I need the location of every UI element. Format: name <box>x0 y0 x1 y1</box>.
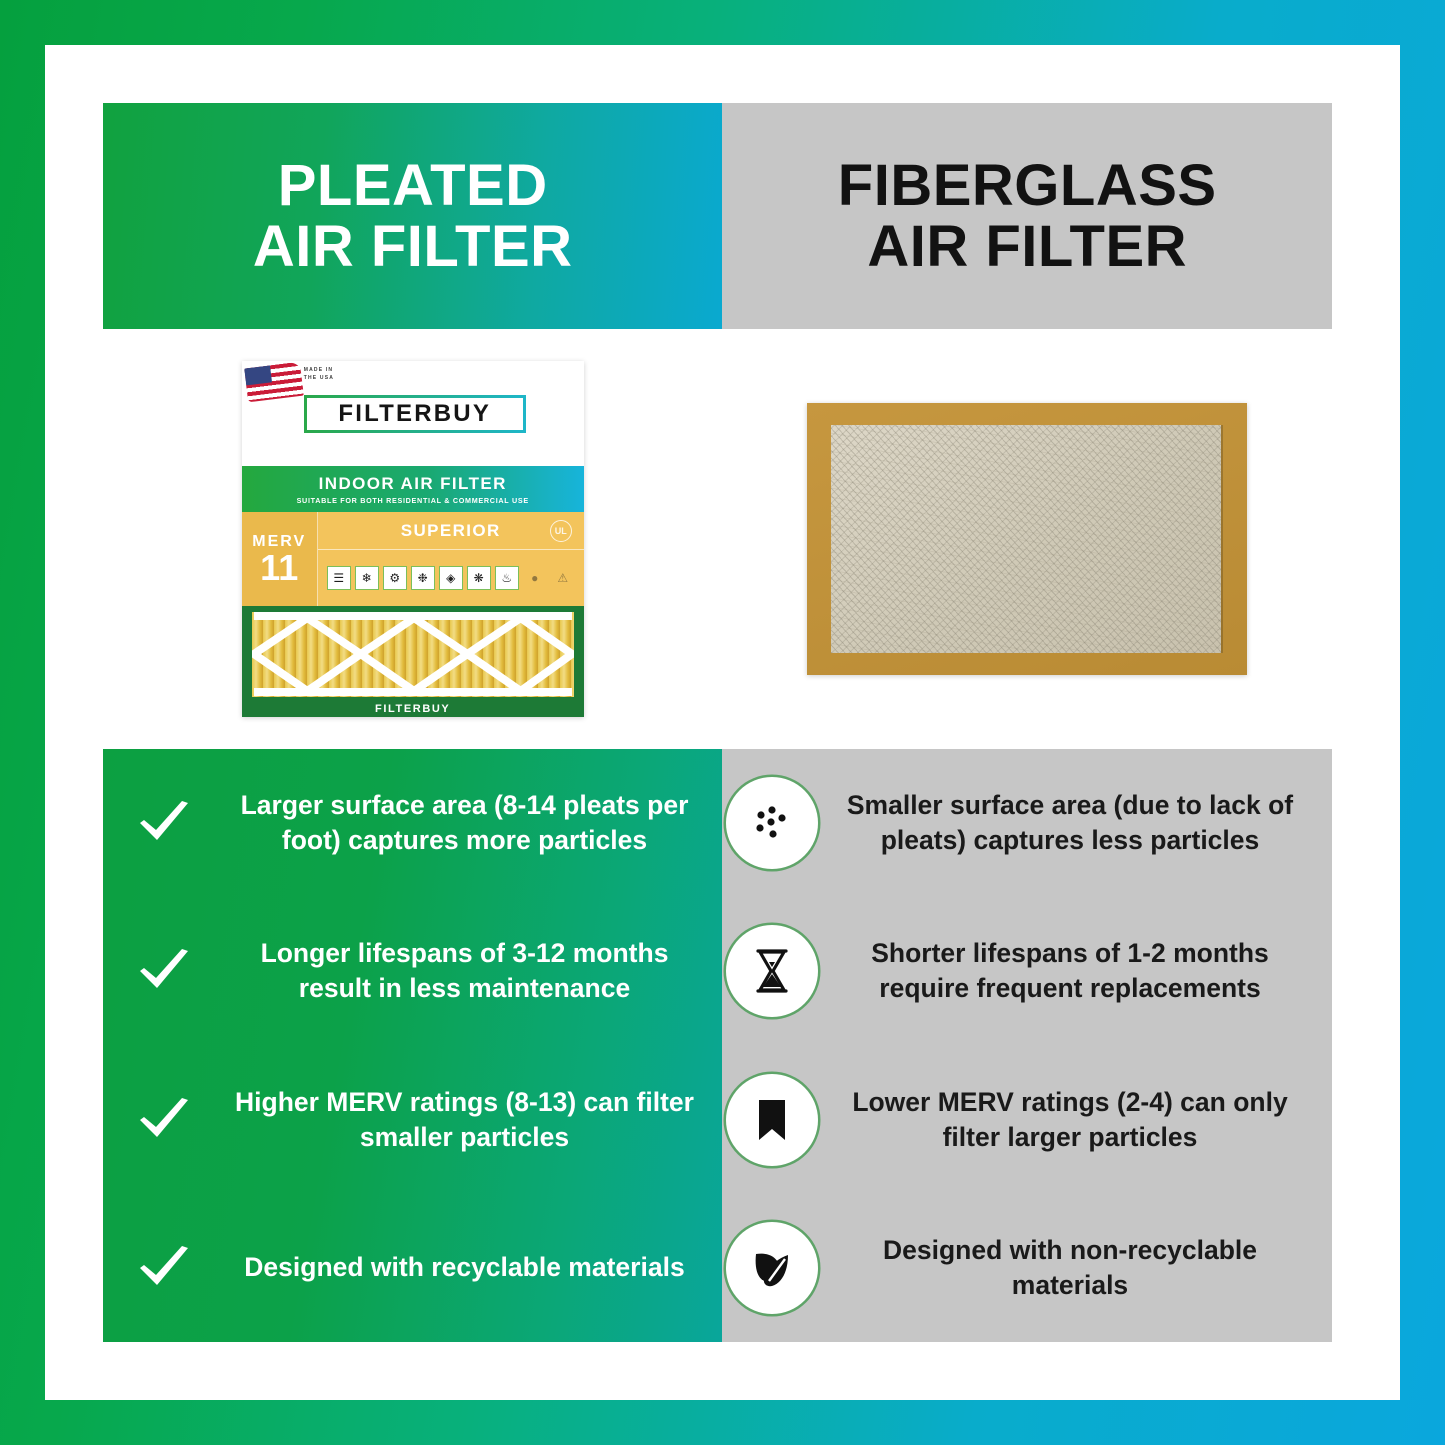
made-in-usa-label: MADE IN THE USA <box>304 367 334 382</box>
leaf-icon <box>747 1243 797 1293</box>
indoor-air-filter-band: INDOOR AIR FILTER SUITABLE FOR BOTH RESI… <box>242 466 584 512</box>
filterbuy-wordmark: FILTERBUY <box>338 400 491 428</box>
feature-text-right: Lower MERV ratings (2-4) can only filter… <box>822 1085 1332 1155</box>
feature-text-left: Higher MERV ratings (8-13) can filter sm… <box>225 1085 722 1155</box>
checkmark-cell <box>103 948 225 994</box>
feature-row: Higher MERV ratings (8-13) can filter sm… <box>103 1046 1332 1194</box>
feature-icon-circle <box>729 928 815 1014</box>
feature-row: Longer lifespans of 3-12 months result i… <box>103 897 1332 1045</box>
particles-icon <box>747 798 797 848</box>
product-images-row: MADE IN THE USA FILTERBUY INDOOR AIR FIL… <box>103 329 1332 749</box>
feature-text-left: Longer lifespans of 3-12 months result i… <box>225 936 722 1006</box>
bookmark-icon <box>747 1095 797 1145</box>
infographic-content: PLEATED AIR FILTER FIBERGLASS AIR FILTER… <box>103 103 1332 1342</box>
allergen-icon: ⚠ <box>551 566 575 590</box>
odor-icon: ● <box>523 566 547 590</box>
usa-flag-icon <box>244 362 304 403</box>
feature-icon-cell <box>722 780 822 866</box>
fiberglass-media <box>831 425 1221 653</box>
check-icon <box>137 1097 191 1143</box>
pet-dander-icon: ❋ <box>467 566 491 590</box>
tier-row: SUPERIOR UL <box>318 512 584 550</box>
virus-icon: ◈ <box>439 566 463 590</box>
checkmark-cell <box>103 800 225 846</box>
tier-label: SUPERIOR <box>401 521 501 541</box>
ul-certification-icon: UL <box>550 520 572 542</box>
smoke-icon: ♨ <box>495 566 519 590</box>
fiberglass-product-cell <box>722 329 1332 749</box>
feature-text-right: Smaller surface area (due to lack of ple… <box>822 788 1332 858</box>
feature-text-right: Designed with non-recyclable materials <box>822 1233 1332 1303</box>
header-fiberglass: FIBERGLASS AIR FILTER <box>722 103 1332 329</box>
diamond-support-grid <box>252 612 574 697</box>
feature-icon-cell <box>722 1077 822 1163</box>
pollen-icon: ❄ <box>355 566 379 590</box>
filterbuy-box-image: MADE IN THE USA FILTERBUY INDOOR AIR FIL… <box>242 361 584 717</box>
comparison-headers: PLEATED AIR FILTER FIBERGLASS AIR FILTER <box>103 103 1332 329</box>
check-icon <box>137 800 191 846</box>
feature-icon-circle <box>729 1225 815 1311</box>
header-pleated: PLEATED AIR FILTER <box>103 103 722 329</box>
pleated-media-view: FILTERBUY <box>242 606 584 717</box>
checkmark-cell <box>103 1245 225 1291</box>
box-band-title: INDOOR AIR FILTER <box>319 474 507 494</box>
merv-details: SUPERIOR UL ☰ ❄ ⚙ ❉ ◈ ❋ <box>318 512 584 606</box>
hourglass-icon <box>747 946 797 996</box>
feature-icon-circle <box>729 1077 815 1163</box>
check-icon <box>137 1245 191 1291</box>
mold-spore-icon: ❉ <box>411 566 435 590</box>
merv-value: 11 <box>260 551 298 585</box>
check-icon <box>137 948 191 994</box>
feature-text-right: Shorter lifespans of 1-2 months require … <box>822 936 1332 1006</box>
box-top-panel: MADE IN THE USA FILTERBUY <box>242 361 584 466</box>
capture-icons-strip: ☰ ❄ ⚙ ❉ ◈ ❋ ♨ ● ⚠ <box>318 550 584 606</box>
feature-text-left: Larger surface area (8-14 pleats per foo… <box>225 788 722 858</box>
bacteria-icon: ⚙ <box>383 566 407 590</box>
merv-band: MERV 11 SUPERIOR UL ☰ ❄ <box>242 512 584 606</box>
box-band-subtitle: SUITABLE FOR BOTH RESIDENTIAL & COMMERCI… <box>297 496 529 505</box>
feature-icon-circle <box>729 780 815 866</box>
outer-gradient-frame: PLEATED AIR FILTER FIBERGLASS AIR FILTER… <box>0 0 1445 1445</box>
header-fiberglass-title: FIBERGLASS AIR FILTER <box>838 155 1217 278</box>
fiberglass-air-filter-photo <box>807 403 1247 675</box>
filterbuy-logo: FILTERBUY <box>304 395 526 433</box>
feature-icon-cell <box>722 928 822 1014</box>
checkmark-cell <box>103 1097 225 1143</box>
pleated-product-cell: MADE IN THE USA FILTERBUY INDOOR AIR FIL… <box>103 329 722 749</box>
header-pleated-title: PLEATED AIR FILTER <box>253 155 573 278</box>
feature-row: Designed with recyclable materials <box>103 1194 1332 1342</box>
feature-rows: Larger surface area (8-14 pleats per foo… <box>103 749 1332 1342</box>
box-bottom-brand: FILTERBUY <box>242 703 584 715</box>
feature-icon-cell <box>722 1225 822 1311</box>
white-canvas: PLEATED AIR FILTER FIBERGLASS AIR FILTER… <box>45 45 1400 1400</box>
feature-comparison: Larger surface area (8-14 pleats per foo… <box>103 749 1332 1342</box>
feature-text-left: Designed with recyclable materials <box>225 1250 722 1285</box>
feature-row: Larger surface area (8-14 pleats per foo… <box>103 749 1332 897</box>
merv-rating-block: MERV 11 <box>242 512 318 606</box>
dust-icon: ☰ <box>327 566 351 590</box>
